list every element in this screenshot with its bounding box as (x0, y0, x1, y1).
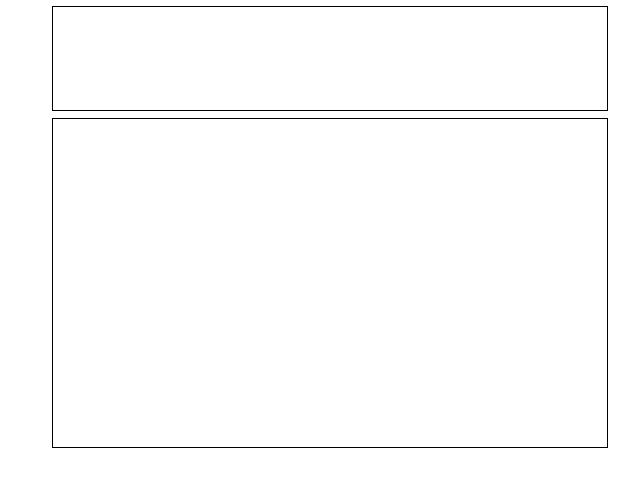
sunspot-series-panel (52, 6, 608, 111)
wavelet-map-panel (52, 118, 608, 448)
wavelet-map-plot (53, 119, 607, 447)
sunspot-series-plot (53, 7, 607, 110)
wavelet-figure (0, 0, 637, 487)
